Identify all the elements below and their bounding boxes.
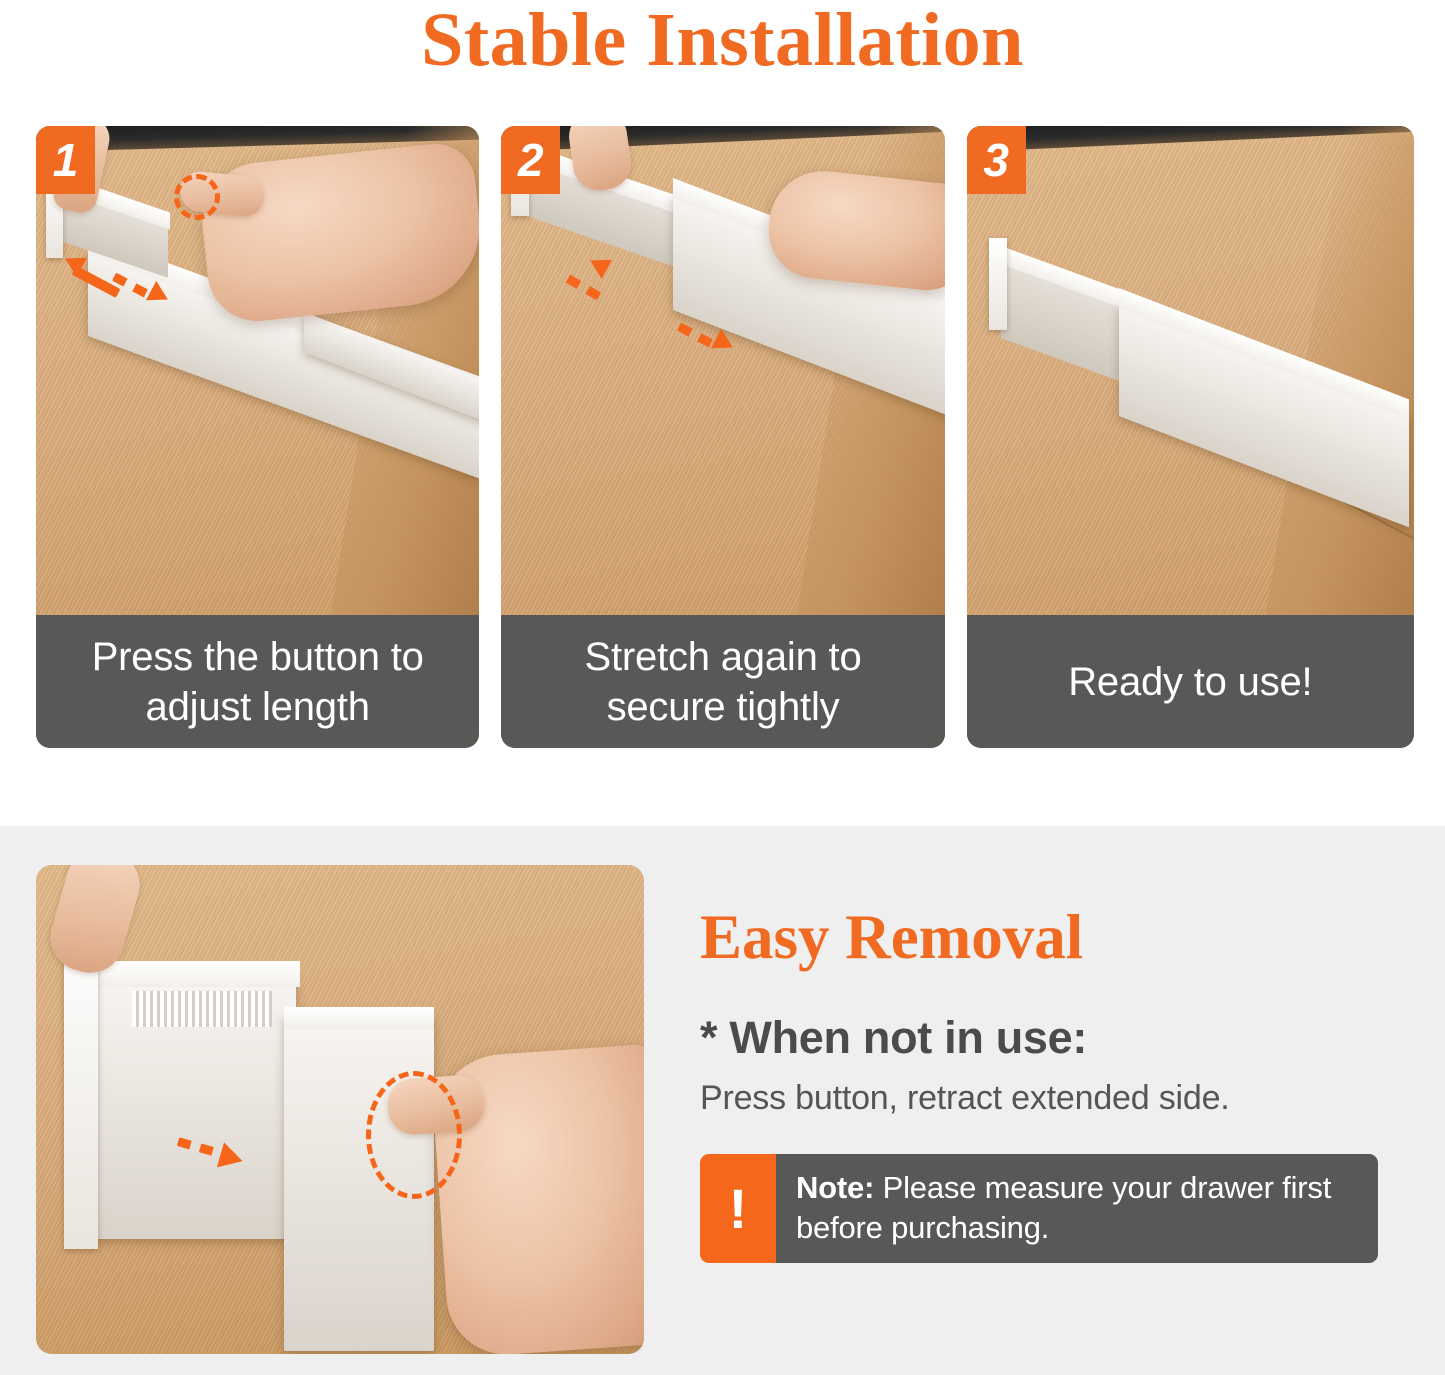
exclamation-icon: ! <box>700 1154 776 1262</box>
divider-standing-rail <box>86 961 300 987</box>
divider-extended-rail <box>284 1007 434 1029</box>
arrow-upleft-head <box>585 251 612 279</box>
step-number-badge-3: 3 <box>967 126 1026 194</box>
step-card-3: 3 Ready to use! <box>967 126 1414 748</box>
steps-row: 1 Press the button to adjust length <box>36 126 1414 748</box>
step-caption-3: Ready to use! <box>967 615 1414 748</box>
easy-removal-description: Press button, retract extended side. <box>700 1078 1390 1119</box>
step-number-badge-1: 1 <box>36 126 95 194</box>
page-title: Stable Installation <box>0 2 1445 78</box>
release-button-highlight-circle <box>174 174 220 220</box>
note-text-line1: Please measure your drawer <box>883 1170 1274 1205</box>
step-caption-3-line1: Ready to use! <box>1068 657 1312 707</box>
step-caption-1-line1: Press the button to <box>92 632 424 682</box>
easy-removal-title: Easy Removal <box>700 904 1390 970</box>
release-button-highlight-circle <box>366 1071 462 1199</box>
step-caption-2-line1: Stretch again to <box>585 632 862 682</box>
product-infographic: Stable Installation <box>0 0 1445 1375</box>
easy-removal-text-block: Easy Removal * When not in use: Press bu… <box>700 904 1390 1263</box>
step-card-1: 1 Press the button to adjust length <box>36 126 479 748</box>
easy-removal-section: Easy Removal * When not in use: Press bu… <box>0 826 1445 1375</box>
stable-installation-section: Stable Installation <box>0 0 1445 826</box>
step-caption-2-line2: secure tightly <box>585 682 862 732</box>
easy-removal-subtitle: * When not in use: <box>700 1013 1390 1063</box>
note-text: Note: Please measure your drawer first b… <box>776 1154 1378 1262</box>
step-caption-2: Stretch again to secure tightly <box>501 615 944 748</box>
divider-left-endcap <box>989 238 1007 330</box>
note-label: Note: <box>796 1170 874 1205</box>
removal-photo-wood-background <box>36 865 644 1354</box>
divider-comb-teeth <box>132 991 272 1027</box>
step-caption-1: Press the button to adjust length <box>36 615 479 748</box>
easy-removal-photo <box>36 865 644 1354</box>
step-card-2: 2 Stretch again to secure tightly <box>501 126 944 748</box>
note-box: ! Note: Please measure your drawer first… <box>700 1154 1378 1262</box>
step-caption-1-line2: adjust length <box>92 682 424 732</box>
step-number-badge-2: 2 <box>501 126 560 194</box>
